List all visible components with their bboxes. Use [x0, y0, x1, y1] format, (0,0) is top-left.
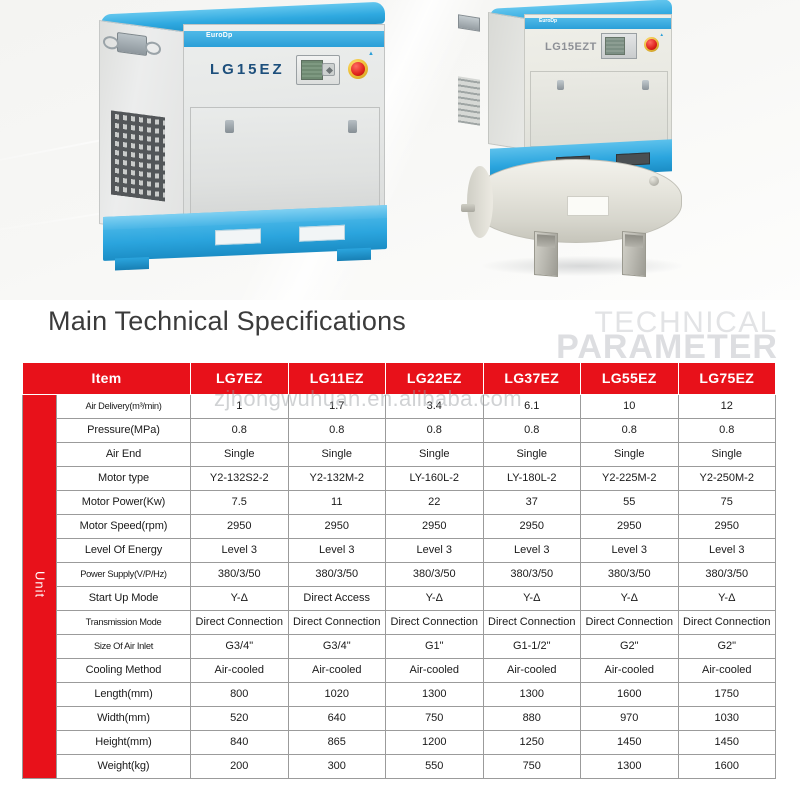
table-cell: 2950: [288, 515, 386, 539]
column-header-item: Item: [23, 363, 191, 395]
ventilation-grille-icon: [458, 76, 480, 125]
table-cell: 0.8: [288, 419, 386, 443]
machine-side-panel: [488, 12, 526, 150]
table-cell: 3.4: [386, 395, 484, 419]
column-header-lg7ez: LG7EZ: [191, 363, 289, 395]
table-cell: Level 3: [386, 539, 484, 563]
table-row: Motor Power(Kw)7.51122375575: [23, 491, 776, 515]
product-image-lg15ez: EuroDp ▲ LG15EZ www.hongwuhuan.com: [95, 6, 395, 264]
table-cell: 750: [483, 755, 581, 779]
table-cell: 640: [288, 707, 386, 731]
column-header-lg55ez: LG55EZ: [581, 363, 679, 395]
table-cell: G3/4": [191, 635, 289, 659]
secondary-logo-icon: ▲: [368, 51, 374, 58]
table-cell: Y-Δ: [483, 587, 581, 611]
row-label-cell: Cooling Method: [57, 659, 191, 683]
secondary-logo-icon: ▲: [660, 33, 664, 38]
table-cell: 2950: [581, 515, 679, 539]
table-row: Transmission ModeDirect ConnectionDirect…: [23, 611, 776, 635]
table-cell: Direct Connection: [581, 611, 679, 635]
table-cell: 6.1: [483, 395, 581, 419]
table-cell: 380/3/50: [288, 563, 386, 587]
unit-vertical-label: Unit: [33, 571, 47, 598]
table-row: Air EndSingleSingleSingleSingleSingleSin…: [23, 443, 776, 467]
unit-column-cell: Unit: [23, 395, 57, 779]
table-row: Height(mm)8408651200125014501450: [23, 731, 776, 755]
brand-logo-text: EuroDp: [539, 18, 557, 24]
row-label-cell: Power Supply(V/P/Hz): [57, 563, 191, 587]
table-row: UnitAir Delivery(m³/min)11.73.46.11012: [23, 395, 776, 419]
row-label-cell: Length(mm): [57, 683, 191, 707]
table-header-row: Item LG7EZ LG11EZ LG22EZ LG37EZ LG55EZ L…: [23, 363, 776, 395]
table-cell: Air-cooled: [678, 659, 776, 683]
table-cell: Single: [191, 443, 289, 467]
table-cell: 200: [191, 755, 289, 779]
table-cell: Air-cooled: [581, 659, 679, 683]
row-label-cell: Size Of Air Inlet: [57, 635, 191, 659]
table-cell: 2950: [678, 515, 776, 539]
control-panel: [296, 55, 340, 85]
table-cell: Direct Connection: [386, 611, 484, 635]
column-header-lg37ez: LG37EZ: [483, 363, 581, 395]
table-cell: 800: [191, 683, 289, 707]
table-cell: Single: [386, 443, 484, 467]
table-cell: 0.8: [483, 419, 581, 443]
table-cell: Level 3: [678, 539, 776, 563]
table-cell: Direct Access: [288, 587, 386, 611]
table-cell: LY-180L-2: [483, 467, 581, 491]
table-cell: Y2-132M-2: [288, 467, 386, 491]
table-cell: 0.8: [386, 419, 484, 443]
table-cell: G1": [386, 635, 484, 659]
table-body: UnitAir Delivery(m³/min)11.73.46.11012Pr…: [23, 395, 776, 779]
table-cell: 1300: [386, 683, 484, 707]
table-cell: Y-Δ: [191, 587, 289, 611]
table-header: Item LG7EZ LG11EZ LG22EZ LG37EZ LG55EZ L…: [23, 363, 776, 395]
table-cell: 2950: [483, 515, 581, 539]
specifications-table-container: Item LG7EZ LG11EZ LG22EZ LG37EZ LG55EZ L…: [22, 362, 776, 779]
table-cell: Level 3: [288, 539, 386, 563]
table-cell: 380/3/50: [581, 563, 679, 587]
forklift-slot-2: [299, 225, 345, 242]
intake-valve-icon: [117, 32, 147, 56]
machine-model-label: LG15EZ: [210, 61, 285, 78]
row-label-cell: Motor Power(Kw): [57, 491, 191, 515]
table-cell: Direct Connection: [678, 611, 776, 635]
table-cell: Single: [288, 443, 386, 467]
table-cell: Single: [678, 443, 776, 467]
table-cell: 1600: [581, 683, 679, 707]
table-cell: 10: [581, 395, 679, 419]
table-cell: 12: [678, 395, 776, 419]
table-cell: 865: [288, 731, 386, 755]
table-cell: 2950: [191, 515, 289, 539]
table-cell: 2950: [386, 515, 484, 539]
table-cell: 840: [191, 731, 289, 755]
table-cell: Single: [581, 443, 679, 467]
row-label-cell: Level Of Energy: [57, 539, 191, 563]
emergency-stop-icon: [348, 59, 368, 79]
table-cell: 1600: [678, 755, 776, 779]
table-cell: Direct Connection: [483, 611, 581, 635]
table-cell: Direct Connection: [191, 611, 289, 635]
intake-valve-icon: [458, 14, 480, 31]
table-cell: 0.8: [581, 419, 679, 443]
table-cell: Level 3: [483, 539, 581, 563]
table-cell: 37: [483, 491, 581, 515]
table-cell: 1200: [386, 731, 484, 755]
table-cell: 1750: [678, 683, 776, 707]
tank-support-foot-2: [622, 231, 646, 277]
table-cell: 1: [191, 395, 289, 419]
row-label-cell: Pressure(MPa): [57, 419, 191, 443]
table-cell: 1030: [678, 707, 776, 731]
table-cell: 7.5: [191, 491, 289, 515]
table-row: Width(mm)5206407508809701030: [23, 707, 776, 731]
table-row: Size Of Air InletG3/4"G3/4"G1"G1-1/2"G2"…: [23, 635, 776, 659]
table-cell: 1450: [581, 731, 679, 755]
brand-stripe: EuroDp: [525, 18, 671, 29]
table-cell: G2": [678, 635, 776, 659]
table-row: Weight(kg)20030055075013001600: [23, 755, 776, 779]
brand-logo-text: EuroDp: [206, 32, 232, 39]
table-cell: 520: [191, 707, 289, 731]
ventilation-grille-icon: [111, 110, 165, 201]
table-cell: 550: [386, 755, 484, 779]
table-cell: Y-Δ: [581, 587, 679, 611]
row-label-cell: Motor type: [57, 467, 191, 491]
column-header-lg75ez: LG75EZ: [678, 363, 776, 395]
table-row: Motor typeY2-132S2-2Y2-132M-2LY-160L-2LY…: [23, 467, 776, 491]
table-cell: 750: [386, 707, 484, 731]
machine-model-label: LG15EZT: [545, 41, 597, 53]
tank-nameplate: [567, 196, 609, 216]
table-row: Pressure(MPa)0.80.80.80.80.80.8: [23, 419, 776, 443]
table-cell: 1450: [678, 731, 776, 755]
row-label-cell: Motor Speed(rpm): [57, 515, 191, 539]
row-label-cell: Air Delivery(m³/min): [57, 395, 191, 419]
table-cell: 55: [581, 491, 679, 515]
forklift-slot-1: [215, 228, 261, 245]
table-cell: 22: [386, 491, 484, 515]
table-cell: G1-1/2": [483, 635, 581, 659]
table-cell: 380/3/50: [191, 563, 289, 587]
table-cell: Air-cooled: [191, 659, 289, 683]
product-shadow: [482, 256, 682, 276]
table-cell: Level 3: [191, 539, 289, 563]
row-label-cell: Air End: [57, 443, 191, 467]
product-photo-band: EuroDp ▲ LG15EZ www.hongwuhuan.com: [0, 0, 800, 300]
table-cell: 1250: [483, 731, 581, 755]
table-cell: Air-cooled: [288, 659, 386, 683]
control-panel: [601, 33, 637, 59]
access-door-panel: [530, 71, 668, 147]
table-cell: G3/4": [288, 635, 386, 659]
skid-foot-1: [115, 257, 149, 270]
table-cell: 0.8: [678, 419, 776, 443]
table-cell: Y2-250M-2: [678, 467, 776, 491]
table-cell: Air-cooled: [483, 659, 581, 683]
door-latch-right-icon: [642, 80, 649, 90]
lcd-display-icon: [301, 60, 323, 80]
skid-foot-2: [337, 248, 371, 261]
table-cell: 380/3/50: [678, 563, 776, 587]
door-latch-right-icon: [348, 120, 357, 133]
decorative-heading-parameter: PARAMETER: [556, 330, 778, 364]
door-latch-left-icon: [225, 120, 234, 133]
table-cell: Level 3: [581, 539, 679, 563]
tank-valve-icon: [649, 176, 659, 186]
page-title: Main Technical Specifications: [48, 306, 406, 337]
row-label-cell: Weight(kg): [57, 755, 191, 779]
table-cell: Single: [483, 443, 581, 467]
row-label-cell: Height(mm): [57, 731, 191, 755]
table-cell: 1300: [581, 755, 679, 779]
column-header-lg22ez: LG22EZ: [386, 363, 484, 395]
specifications-table: Item LG7EZ LG11EZ LG22EZ LG37EZ LG55EZ L…: [22, 362, 776, 779]
table-row: Motor Speed(rpm)295029502950295029502950: [23, 515, 776, 539]
row-label-cell: Start Up Mode: [57, 587, 191, 611]
table-cell: 1.7: [288, 395, 386, 419]
table-cell: 300: [288, 755, 386, 779]
table-cell: Y2-225M-2: [581, 467, 679, 491]
product-image-lg15ezt: EuroDp ▲ LG15EZT: [452, 4, 708, 284]
tank-drain-nozzle-icon: [461, 204, 475, 212]
tank-end-cap: [467, 166, 493, 238]
machine-front-panel: EuroDp ▲ LG15EZT: [524, 14, 672, 150]
table-cell: LY-160L-2: [386, 467, 484, 491]
table-cell: 970: [581, 707, 679, 731]
table-cell: Direct Connection: [288, 611, 386, 635]
door-latch-left-icon: [557, 80, 564, 90]
table-cell: 380/3/50: [483, 563, 581, 587]
column-header-lg11ez: LG11EZ: [288, 363, 386, 395]
table-row: Cooling MethodAir-cooledAir-cooledAir-co…: [23, 659, 776, 683]
table-cell: 11: [288, 491, 386, 515]
lcd-display-icon: [605, 37, 625, 55]
table-cell: 1300: [483, 683, 581, 707]
brand-stripe: EuroDp: [184, 31, 384, 47]
table-cell: Y-Δ: [386, 587, 484, 611]
table-cell: 380/3/50: [386, 563, 484, 587]
table-cell: G2": [581, 635, 679, 659]
table-cell: 75: [678, 491, 776, 515]
table-row: Length(mm)80010201300130016001750: [23, 683, 776, 707]
row-label-cell: Transmission Mode: [57, 611, 191, 635]
table-cell: 0.8: [191, 419, 289, 443]
keypad-icon: [322, 63, 335, 76]
emergency-stop-icon: [644, 37, 659, 52]
table-cell: 880: [483, 707, 581, 731]
machine-front-panel: EuroDp ▲ LG15EZ www.hongwuhuan.com: [183, 24, 385, 234]
tank-support-foot-1: [534, 231, 558, 277]
table-row: Level Of EnergyLevel 3Level 3Level 3Leve…: [23, 539, 776, 563]
table-cell: Y-Δ: [678, 587, 776, 611]
table-row: Power Supply(V/P/Hz)380/3/50380/3/50380/…: [23, 563, 776, 587]
air-receiver-tank: [470, 159, 682, 243]
table-cell: 1020: [288, 683, 386, 707]
row-label-cell: Width(mm): [57, 707, 191, 731]
table-cell: Air-cooled: [386, 659, 484, 683]
table-row: Start Up ModeY-ΔDirect AccessY-ΔY-ΔY-ΔY-…: [23, 587, 776, 611]
table-cell: Y2-132S2-2: [191, 467, 289, 491]
